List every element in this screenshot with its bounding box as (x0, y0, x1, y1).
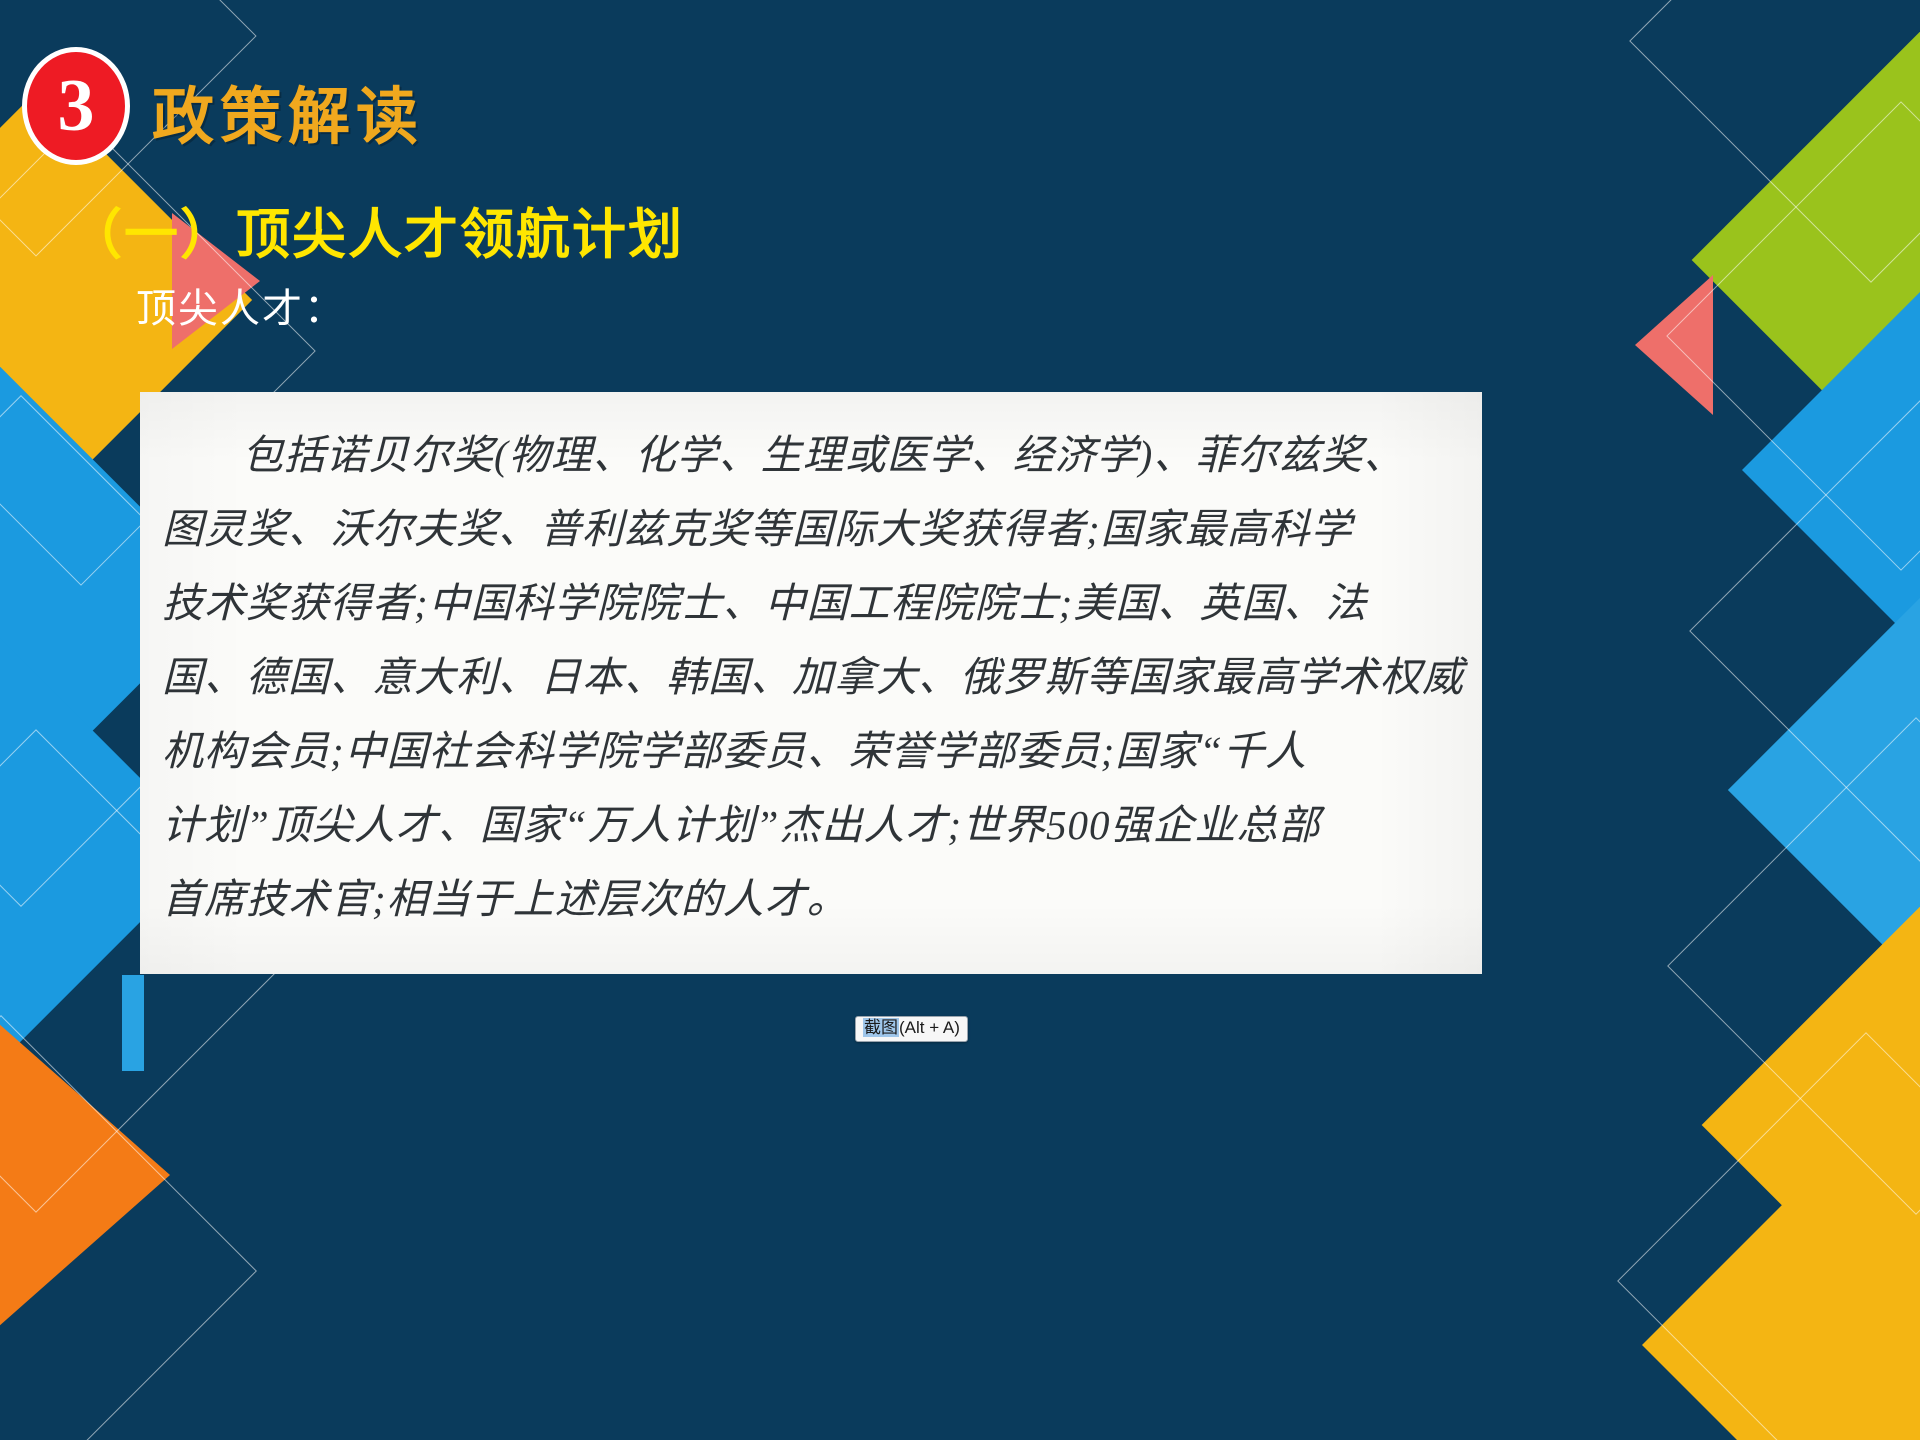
tooltip-shortcut-text: (Alt + A) (899, 1018, 960, 1037)
scanned-document-body: 包括诺贝尔奖(物理、化学、生理或医学、经济学)、菲尔兹奖、 图灵奖、沃尔夫奖、普… (140, 392, 1482, 974)
document-line: 技术奖获得者;中国科学院院士、中国工程院院士;美国、英国、法 (162, 566, 1460, 640)
chevron-outline-right-mid (1689, 389, 1920, 873)
document-line: 计划”顶尖人才、国家“万人计划”杰出人才;世界500强企业总部 (162, 788, 1460, 862)
chevron-outline-right-upper (1666, 101, 1920, 571)
diamond-shape-blue-right-top (1742, 272, 1920, 668)
document-line: 首席技术官;相当于上述层次的人才。 (162, 862, 1460, 936)
page-title: 政策解读 (152, 66, 424, 156)
triangle-shape-salmon-right (1635, 275, 1713, 415)
screenshot-tooltip: 截图(Alt + A) (855, 1016, 968, 1042)
diamond-shape-yellow-right (1702, 892, 1920, 1359)
rect-shape-lightblue-left (122, 975, 144, 1071)
lead-label: 顶尖人才： (136, 276, 346, 334)
chevron-outline-right-bottom (1617, 1032, 1920, 1440)
document-line: 包括诺贝尔奖(物理、化学、生理或医学、经济学)、菲尔兹奖、 (162, 418, 1460, 492)
wedge-shape-yellow-bottom-right (1642, 1147, 1920, 1440)
document-line: 机构会员;中国社会科学院学部委员、荣誉学部委员;国家“千人 (162, 714, 1460, 788)
subsection-title: （一）顶尖人才领航计划 (68, 190, 684, 269)
chevron-outline-right-top (1629, 0, 1920, 283)
diamond-shape-cyan-right (1728, 578, 1920, 1002)
chevron-outline-right-lower (1667, 717, 1920, 1215)
wedge-shape-green-right (1692, 27, 1920, 494)
document-line: 图灵奖、沃尔夫奖、普利兹克奖等国际大奖获得者;国家最高科学 (162, 492, 1460, 566)
section-number-badge: 3 (22, 47, 130, 165)
triangle-shape-orange-left (0, 985, 170, 1365)
document-line: 国、德国、意大利、日本、韩国、加拿大、俄罗斯等国家最高学术权威 (162, 640, 1460, 714)
scanned-document-card: 包括诺贝尔奖(物理、化学、生理或医学、经济学)、菲尔兹奖、 图灵奖、沃尔夫奖、普… (140, 392, 1482, 974)
chevron-outline-left-bottom (0, 1015, 257, 1440)
tooltip-highlighted-text: 截图 (863, 1018, 899, 1037)
section-number-text: 3 (58, 69, 95, 143)
presentation-slide: 3 政策解读 （一）顶尖人才领航计划 顶尖人才： 包括诺贝尔奖(物理、化学、生理… (0, 0, 1920, 1440)
